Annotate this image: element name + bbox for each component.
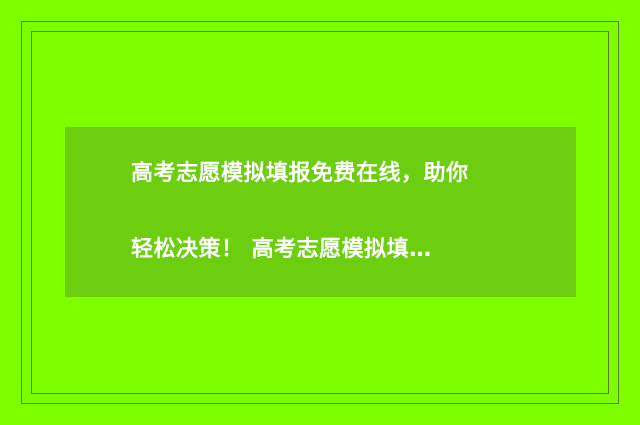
poster-canvas: 高考志愿模拟填报免费在线，助你 轻松决策！ 高考志愿模拟填… bbox=[0, 0, 640, 425]
caption-panel: 高考志愿模拟填报免费在线，助你 轻松决策！ 高考志愿模拟填… bbox=[65, 127, 576, 297]
headline-text: 高考志愿模拟填报免费在线，助你 轻松决策！ 高考志愿模拟填… bbox=[131, 117, 536, 307]
headline-line-1: 高考志愿模拟填报免费在线，助你 bbox=[131, 155, 536, 193]
headline-line-2: 轻松决策！ 高考志愿模拟填… bbox=[131, 231, 536, 269]
